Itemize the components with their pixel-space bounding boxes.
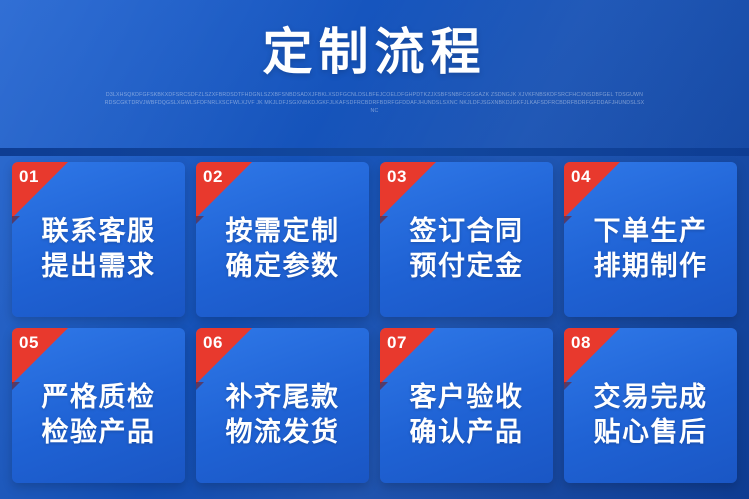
step-line1: 下单生产: [594, 216, 708, 246]
step-line2: 排期制作: [594, 249, 708, 284]
step-number: 07: [387, 334, 407, 351]
corner-ribbon-shadow-icon: [380, 216, 388, 224]
step-line1: 客户验收: [410, 382, 524, 412]
custom-process-poster: 定制流程 D3LXHSQKDFGFSKBKXDFSRCSDFZLSZXFBRDS…: [0, 0, 749, 499]
corner-ribbon-shadow-icon: [564, 382, 572, 390]
step-card-03[interactable]: 03 签订合同 预付定金: [380, 162, 553, 317]
step-number: 02: [203, 168, 223, 185]
step-number: 03: [387, 168, 407, 185]
step-line2: 贴心售后: [594, 415, 708, 450]
step-card-07[interactable]: 07 客户验收 确认产品: [380, 328, 553, 483]
step-line1: 联系客服: [42, 216, 156, 246]
step-number: 08: [571, 334, 591, 351]
corner-ribbon-shadow-icon: [380, 382, 388, 390]
step-card-02[interactable]: 02 按需定制 确定参数: [196, 162, 369, 317]
step-card-01[interactable]: 01 联系客服 提出需求: [12, 162, 185, 317]
step-line1: 签订合同: [410, 216, 524, 246]
decorative-subtext: D3LXHSQKDFGFSKBKXDFSRCSDFZLSZXFBRDSDTFHD…: [105, 91, 645, 115]
step-card-08[interactable]: 08 交易完成 贴心售后: [564, 328, 737, 483]
corner-ribbon-shadow-icon: [196, 382, 204, 390]
step-card-05[interactable]: 05 严格质检 检验产品: [12, 328, 185, 483]
poster-header: 定制流程 D3LXHSQKDFGFSKBKXDFSRCSDFZLSZXFBRDS…: [0, 0, 749, 148]
step-line2: 确认产品: [410, 415, 524, 450]
corner-ribbon-shadow-icon: [196, 216, 204, 224]
step-card-06[interactable]: 06 补齐尾款 物流发货: [196, 328, 369, 483]
step-line2: 提出需求: [42, 249, 156, 284]
step-number: 04: [571, 168, 591, 185]
step-line1: 交易完成: [594, 382, 708, 412]
page-title: 定制流程: [263, 26, 487, 79]
step-line1: 按需定制: [226, 216, 340, 246]
step-number: 05: [19, 334, 39, 351]
step-number: 06: [203, 334, 223, 351]
steps-grid: 01 联系客服 提出需求 02 按需定制 确定参数 03 签订合同 预付定金: [0, 148, 749, 497]
corner-ribbon-shadow-icon: [12, 382, 20, 390]
step-line2: 确定参数: [226, 249, 340, 284]
step-number: 01: [19, 168, 39, 185]
step-line1: 补齐尾款: [226, 382, 340, 412]
corner-ribbon-shadow-icon: [12, 216, 20, 224]
step-line2: 物流发货: [226, 415, 340, 450]
step-line1: 严格质检: [42, 382, 156, 412]
corner-ribbon-shadow-icon: [564, 216, 572, 224]
step-card-04[interactable]: 04 下单生产 排期制作: [564, 162, 737, 317]
step-line2: 检验产品: [42, 415, 156, 450]
step-line2: 预付定金: [410, 249, 524, 284]
